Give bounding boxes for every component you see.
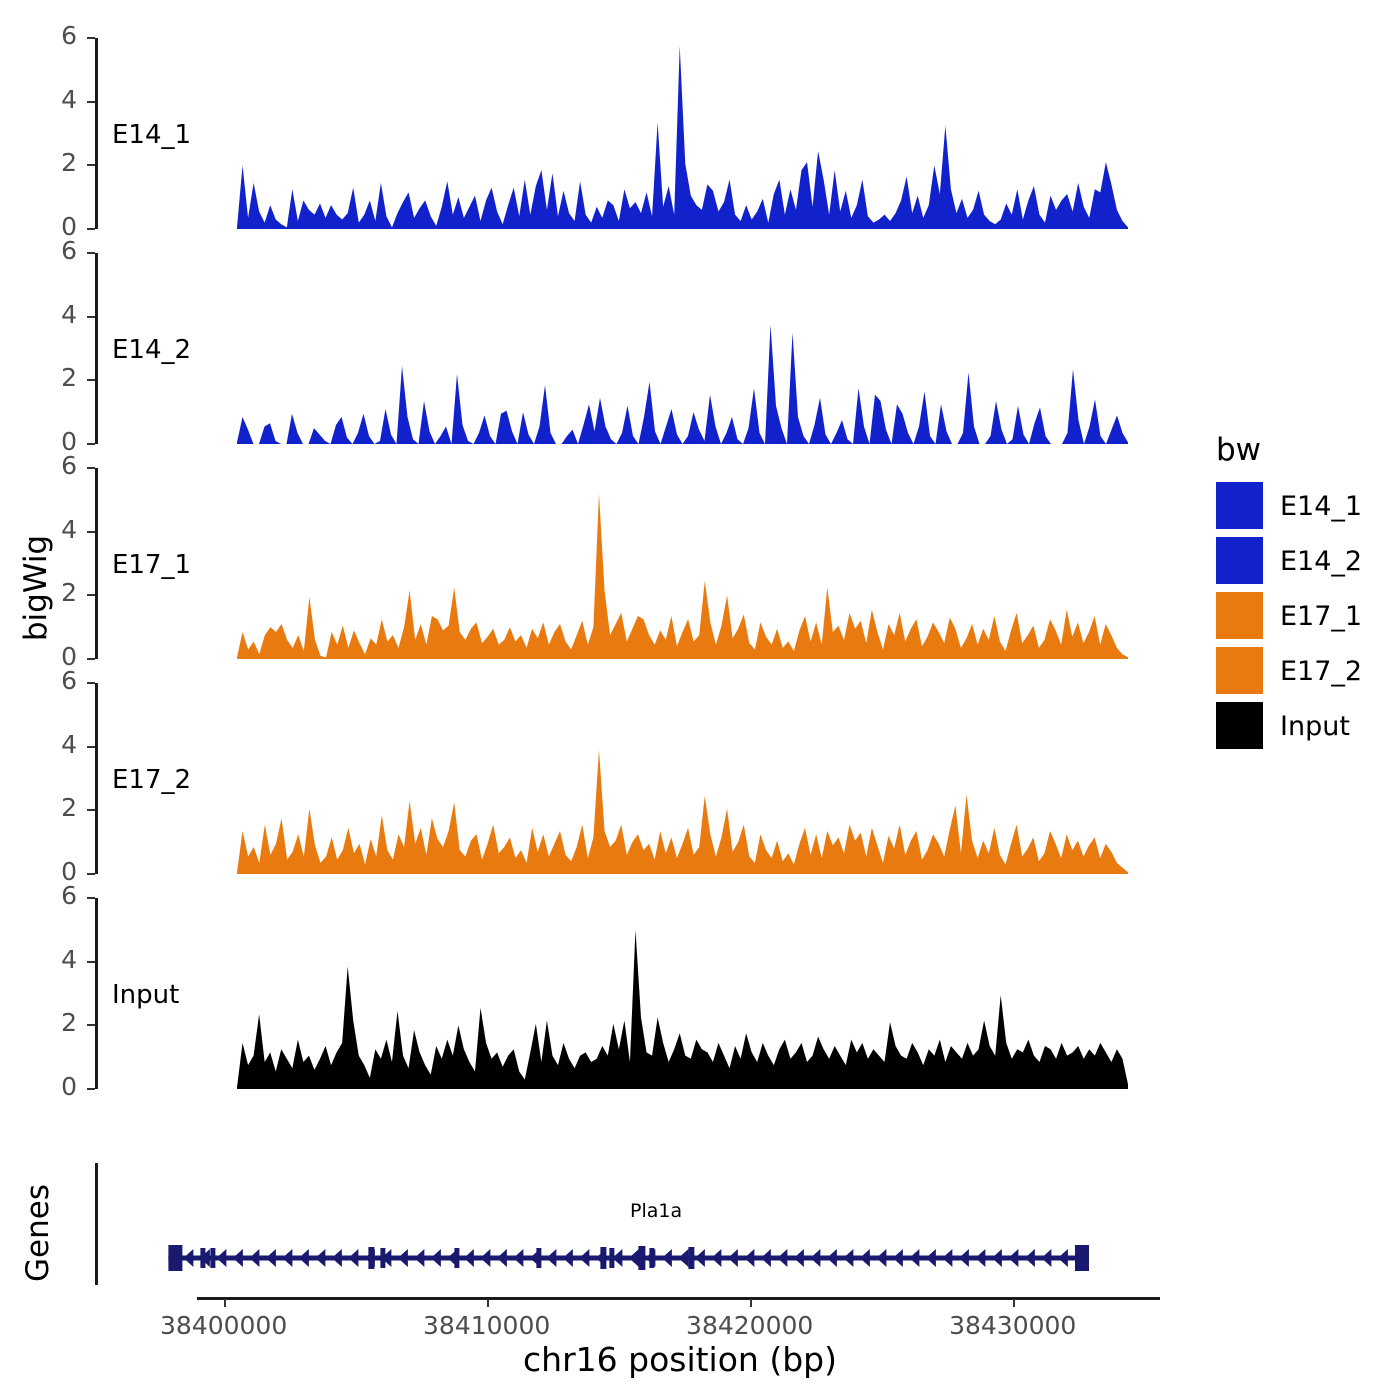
- gene-strand-arrow-left-icon: [414, 1249, 424, 1267]
- gene-strand-arrow-left-icon: [860, 1249, 870, 1267]
- y-tick-label: 6: [29, 666, 77, 695]
- legend-key-e14_1[interactable]: [1216, 482, 1263, 529]
- y-tick-label: 2: [29, 1008, 77, 1037]
- gene-exon: [638, 1246, 645, 1270]
- genes-axis-line: [95, 1163, 98, 1285]
- gene-strand-arrow-left-icon: [794, 1249, 804, 1267]
- y-tick-mark: [87, 101, 95, 103]
- legend-key-e17_2[interactable]: [1216, 647, 1263, 694]
- legend-key-e17_1[interactable]: [1216, 592, 1263, 639]
- y-tick-mark: [87, 37, 95, 39]
- y-tick-label: 2: [29, 793, 77, 822]
- y-tick-mark: [87, 682, 95, 684]
- gene-strand-arrow-left-icon: [299, 1249, 309, 1267]
- y-tick-mark: [87, 379, 95, 381]
- gene-strand-arrow-left-icon: [1041, 1249, 1051, 1267]
- gene-strand-arrow-left-icon: [893, 1249, 903, 1267]
- y-tick-label: 4: [29, 300, 77, 329]
- gene-strand-arrow-left-icon: [909, 1249, 919, 1267]
- gene-strand-arrow-left-icon: [398, 1249, 408, 1267]
- x-tick-mark: [750, 1299, 752, 1307]
- y-tick-mark: [87, 252, 95, 254]
- gene-exon: [210, 1248, 215, 1268]
- signal-area-input: [237, 930, 1128, 1089]
- gene-strand-arrow-left-icon: [678, 1249, 688, 1267]
- signal-panel-e14_1: [100, 38, 1160, 229]
- legend-label-e14_2: E14_2: [1280, 546, 1362, 577]
- signal-area-e17_2: [237, 750, 1128, 874]
- legend-label-e17_1: E17_1: [1280, 601, 1362, 632]
- y-axis-label-genes: Genes: [20, 1173, 56, 1293]
- y-tick-mark: [87, 873, 95, 875]
- x-tick-label: 38410000: [382, 1311, 592, 1340]
- y-tick-mark: [87, 1024, 95, 1026]
- signal-area-e17_1: [237, 493, 1128, 659]
- gene-name-label: Pla1a: [630, 1200, 682, 1222]
- gene-strand-arrow-left-icon: [711, 1249, 721, 1267]
- y-axis-line-e14_1: [95, 38, 98, 229]
- x-axis-line: [197, 1297, 1160, 1300]
- signal-panel-e17_1: [100, 468, 1160, 659]
- y-tick-mark: [87, 467, 95, 469]
- legend-label-e14_1: E14_1: [1280, 491, 1362, 522]
- gene-strand-arrow-left-icon: [827, 1249, 837, 1267]
- gene-strand-arrow-left-icon: [1008, 1249, 1018, 1267]
- gene-strand-arrow-left-icon: [695, 1249, 705, 1267]
- gene-strand-arrow-left-icon: [744, 1249, 754, 1267]
- gene-strand-arrow-left-icon: [480, 1249, 490, 1267]
- gene-strand-arrow-left-icon: [249, 1249, 259, 1267]
- y-tick-label: 4: [29, 945, 77, 974]
- gene-strand-arrow-left-icon: [332, 1249, 342, 1267]
- signal-panel-e14_2: [100, 253, 1160, 444]
- gene-strand-arrow-left-icon: [315, 1249, 325, 1267]
- signal-area-e14_2: [237, 325, 1128, 444]
- gene-track-panel: [100, 1163, 1160, 1285]
- x-axis-title: chr16 position (bp): [350, 1340, 1010, 1379]
- gene-strand-arrow-left-icon: [777, 1249, 787, 1267]
- gene-strand-arrow-left-icon: [530, 1249, 540, 1267]
- y-tick-mark: [87, 228, 95, 230]
- gene-strand-arrow-left-icon: [464, 1249, 474, 1267]
- y-tick-label: 2: [29, 578, 77, 607]
- gene-strand-arrow-left-icon: [447, 1249, 457, 1267]
- gene-strand-arrow-left-icon: [183, 1249, 193, 1267]
- x-tick-label: 38430000: [908, 1311, 1118, 1340]
- y-tick-mark: [87, 897, 95, 899]
- y-axis-line-input: [95, 898, 98, 1089]
- y-axis-line-e14_2: [95, 253, 98, 444]
- signal-panel-e17_2: [100, 683, 1160, 874]
- y-tick-mark: [87, 531, 95, 533]
- gene-strand-arrow-left-icon: [282, 1249, 292, 1267]
- x-tick-mark: [1013, 1299, 1015, 1307]
- gene-strand-arrow-left-icon: [629, 1249, 639, 1267]
- legend-key-input[interactable]: [1216, 702, 1263, 749]
- x-tick-label: 38420000: [645, 1311, 855, 1340]
- gene-strand-arrow-left-icon: [959, 1249, 969, 1267]
- y-tick-mark: [87, 443, 95, 445]
- gene-strand-arrow-left-icon: [266, 1249, 276, 1267]
- y-axis-line-e17_2: [95, 683, 98, 874]
- y-tick-label: 6: [29, 236, 77, 265]
- legend-title: bw: [1216, 432, 1261, 468]
- gene-strand-arrow-left-icon: [348, 1249, 358, 1267]
- y-tick-label: 6: [29, 21, 77, 50]
- gene-strand-arrow-left-icon: [728, 1249, 738, 1267]
- gene-strand-arrow-left-icon: [513, 1249, 523, 1267]
- gene-exon: [688, 1247, 694, 1269]
- y-tick-mark: [87, 164, 95, 166]
- y-tick-mark: [87, 961, 95, 963]
- gene-strand-arrow-left-icon: [942, 1249, 952, 1267]
- gene-strand-arrow-left-icon: [810, 1249, 820, 1267]
- y-tick-mark: [87, 746, 95, 748]
- legend-key-e14_2[interactable]: [1216, 537, 1263, 584]
- y-axis-line-e17_1: [95, 468, 98, 659]
- signal-area-e14_1: [237, 46, 1128, 229]
- y-tick-label: 6: [29, 881, 77, 910]
- x-tick-mark: [487, 1299, 489, 1307]
- gene-strand-arrow-left-icon: [431, 1249, 441, 1267]
- gene-exon: [168, 1245, 182, 1271]
- y-tick-mark: [87, 809, 95, 811]
- y-tick-label: 4: [29, 85, 77, 114]
- signal-panel-input: [100, 898, 1160, 1089]
- y-tick-label: 6: [29, 451, 77, 480]
- gene-strand-arrow-left-icon: [843, 1249, 853, 1267]
- gene-strand-arrow-left-icon: [233, 1249, 243, 1267]
- gene-strand-arrow-left-icon: [546, 1249, 556, 1267]
- gene-exon: [1075, 1245, 1089, 1271]
- gene-strand-arrow-left-icon: [1058, 1249, 1068, 1267]
- y-tick-label: 0: [29, 1072, 77, 1101]
- legend-label-e17_2: E17_2: [1280, 656, 1362, 687]
- y-tick-mark: [87, 1088, 95, 1090]
- gene-strand-arrow-left-icon: [497, 1249, 507, 1267]
- x-tick-label: 38400000: [119, 1311, 329, 1340]
- y-tick-mark: [87, 316, 95, 318]
- y-tick-label: 2: [29, 363, 77, 392]
- gene-strand-arrow-left-icon: [876, 1249, 886, 1267]
- gene-strand-arrow-left-icon: [563, 1249, 573, 1267]
- y-tick-label: 4: [29, 515, 77, 544]
- y-tick-label: 2: [29, 148, 77, 177]
- legend-label-input: Input: [1280, 711, 1350, 742]
- gene-strand-arrow-left-icon: [761, 1249, 771, 1267]
- x-tick-mark: [224, 1299, 226, 1307]
- y-tick-mark: [87, 658, 95, 660]
- gene-strand-arrow-left-icon: [662, 1249, 672, 1267]
- y-tick-mark: [87, 594, 95, 596]
- gene-strand-arrow-left-icon: [1025, 1249, 1035, 1267]
- gene-strand-arrow-left-icon: [975, 1249, 985, 1267]
- gene-strand-arrow-left-icon: [216, 1249, 226, 1267]
- gene-strand-arrow-left-icon: [926, 1249, 936, 1267]
- gene-strand-arrow-left-icon: [579, 1249, 589, 1267]
- y-tick-label: 4: [29, 730, 77, 759]
- gene-strand-arrow-left-icon: [992, 1249, 1002, 1267]
